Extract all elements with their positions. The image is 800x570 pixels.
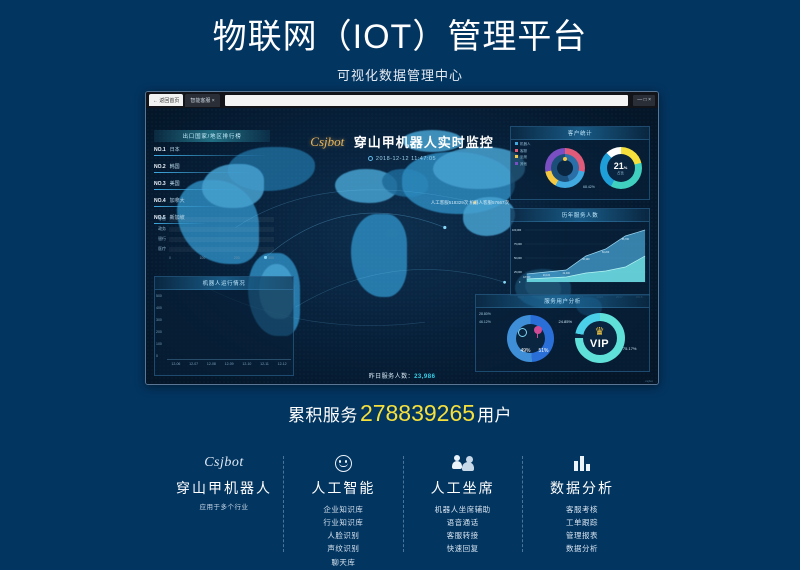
hbar-label: 政务 <box>154 226 166 232</box>
svg-text:0: 0 <box>519 280 521 284</box>
y-tick: 500 <box>156 294 162 298</box>
dashboard-title-block: Csjbot 穿山甲机器人实时监控 2018-12-12 11:47:05 <box>146 132 658 162</box>
accumulated-users: 累积服务278839265用户 <box>0 400 800 427</box>
feature-list-item[interactable]: 快速回复 <box>407 542 519 555</box>
user-stat: 46.12% <box>479 319 491 327</box>
feature-list: 企业知识库 行业知识库 人脸识别 声纹识别 聊天库 <box>287 503 399 569</box>
donut-unit: % <box>624 165 628 170</box>
vip-percent: 24.85% <box>559 319 573 324</box>
donut-value: 21 <box>614 161 624 171</box>
vip-label: VIP <box>590 338 609 350</box>
feature-list-item[interactable]: 管理报表 <box>526 529 638 542</box>
rank-name: 韩国 <box>170 163 180 170</box>
rank-name: 美国 <box>170 180 180 187</box>
feature-columns: Csjbot 穿山甲机器人 应用于多个行业 人工智能 企业知识库 行业知识库 人… <box>168 452 638 569</box>
footer-value: 23,986 <box>414 374 435 380</box>
x-tick: 12-07 <box>189 362 198 366</box>
feature-list-item[interactable]: 企业知识库 <box>287 503 399 516</box>
hbar-tick: 200 <box>234 256 240 260</box>
x-tick: 12-06 <box>171 362 180 366</box>
hbar-row: 零售 <box>154 216 274 222</box>
csjbot-logo-icon: Csjbot <box>168 452 280 474</box>
rank-row[interactable]: NO.3 美国 <box>154 180 270 190</box>
y-tick: 300 <box>156 318 162 322</box>
feature-list-item[interactable]: 人脸识别 <box>287 529 399 542</box>
dashboard-corner-note: csjbot <box>645 379 653 383</box>
donut-caption: 占比 <box>617 171 624 176</box>
rank-no: NO.3 <box>154 181 166 187</box>
rank-no: NO.2 <box>154 164 166 170</box>
crown-icon: ♛ <box>595 327 605 338</box>
feature-column-robot[interactable]: Csjbot 穿山甲机器人 应用于多个行业 <box>168 452 280 569</box>
hbar-tick: 100 <box>199 256 205 260</box>
dashboard-datetime: 2018-12-12 11:47:05 <box>376 156 436 162</box>
yearly-service-panel: 历年服务人数 人工客服518329次 机器人客服57667次 100,00075… <box>510 208 650 296</box>
x-tick: 12-11 <box>260 362 269 366</box>
gender-donut: 49% 51% <box>507 315 554 362</box>
dashboard-canvas: Csjbot 穿山甲机器人实时监控 2018-12-12 11:47:05 出口… <box>146 108 658 385</box>
clock-icon <box>368 156 373 161</box>
vip-right-percent: 75.17% <box>623 346 637 351</box>
feature-list-item[interactable]: 行业知识库 <box>287 516 399 529</box>
bar-y-axis: 500 400 300 200 100 0 <box>156 294 162 358</box>
svg-text:50,000: 50,000 <box>514 256 522 260</box>
user-analysis-title: 服务用户分析 <box>476 295 649 308</box>
yearly-service-title: 历年服务人数 <box>511 209 649 222</box>
hbar-axis: 0 100 200 300 <box>154 256 274 260</box>
svg-text:25,000: 25,000 <box>514 270 522 274</box>
browser-toolbar: ← 返回首页 智能客服 × — □ × <box>146 92 658 108</box>
csjbot-logo-text: Csjbot <box>204 455 244 471</box>
dashboard-datetime-row: 2018-12-12 11:47:05 <box>146 156 658 162</box>
window-controls[interactable]: — □ × <box>633 95 655 106</box>
footer-label: 昨日服务人数： <box>369 374 415 380</box>
svg-text:20,100: 20,100 <box>543 274 551 277</box>
feature-list-item[interactable]: 机器人坐席辅助 <box>407 503 519 516</box>
hbar-row: 银行 <box>154 236 274 242</box>
service-stats-text: 人工客服518329次 机器人客服57667次 <box>389 200 509 206</box>
feature-list-item[interactable]: 聊天库 <box>287 556 399 569</box>
hbar-label: 医疗 <box>154 246 166 252</box>
two-people-icon <box>407 452 519 474</box>
x-tick: 12-09 <box>225 362 234 366</box>
hbar-label: 零售 <box>154 216 166 222</box>
feature-column-agent[interactable]: 人工坐席 机器人坐席辅助 语音通话 客服转接 快速回复 <box>407 452 519 569</box>
feature-column-ai[interactable]: 人工智能 企业知识库 行业知识库 人脸识别 声纹识别 聊天库 <box>287 452 399 569</box>
x-tick: 12-12 <box>278 362 287 366</box>
y-tick: 100 <box>156 342 162 346</box>
male-percent: 49% <box>521 348 531 354</box>
feature-list-item[interactable]: 数据分析 <box>526 542 638 555</box>
feature-title: 人工智能 <box>287 478 399 498</box>
svg-text:86,700: 86,700 <box>622 238 630 241</box>
svg-text:75,000: 75,000 <box>514 242 522 246</box>
csjbot-logo: Csjbot <box>310 134 344 149</box>
feature-list-item[interactable]: 客服考核 <box>526 503 638 516</box>
rank-name: 加拿大 <box>170 197 185 204</box>
accumulated-number: 278839265 <box>360 400 475 426</box>
feature-list: 客服考核 工单跟踪 管理报表 数据分析 <box>526 503 638 556</box>
x-tick: 12-08 <box>207 362 216 366</box>
feature-title: 人工坐席 <box>407 478 519 498</box>
female-percent: 51% <box>538 348 548 354</box>
bar-chart-plot <box>167 294 291 360</box>
x-tick: 12-10 <box>242 362 251 366</box>
bar-x-axis: 12-06 12-07 12-08 12-09 12-10 12-11 12-1… <box>167 362 291 366</box>
area-chart-plot: 100,00075,000 50,00025,0000 18,50020,100… <box>511 222 649 290</box>
feature-list-item[interactable]: 声纹识别 <box>287 542 399 555</box>
address-bar[interactable] <box>225 95 629 106</box>
robot-status-title: 机器人运行情况 <box>155 277 293 290</box>
hbar-tick: 300 <box>268 256 274 260</box>
feature-list-item[interactable]: 语音通话 <box>407 516 519 529</box>
user-stat: 28.80% <box>479 311 491 319</box>
hbar-label: 银行 <box>154 236 166 242</box>
feature-list-item[interactable]: 工单跟踪 <box>526 516 638 529</box>
accumulated-prefix: 累积服务 <box>288 406 358 425</box>
y-tick: 0 <box>156 354 162 358</box>
dashboard-footer: 昨日服务人数：23,986 <box>146 371 658 380</box>
donut-left-value: 68.42% <box>583 185 595 189</box>
vip-donut: ♛ VIP 24.85% 75.17% <box>575 313 625 363</box>
feature-subtitle: 应用于多个行业 <box>168 501 280 511</box>
feature-title: 数据分析 <box>526 478 638 498</box>
y-tick: 200 <box>156 330 162 334</box>
hbar-row: 医疗 <box>154 246 274 252</box>
window-control-buttons[interactable]: — □ × <box>633 95 655 106</box>
hbar-row: 政务 <box>154 226 274 232</box>
feature-title: 穿山甲机器人 <box>168 478 280 498</box>
page-header: 物联网（IOT）管理平台 可视化数据管理中心 <box>0 0 800 84</box>
hbar-tick: 0 <box>169 256 171 260</box>
browser-tab[interactable]: 智能客服 × <box>185 94 219 107</box>
svg-text:46,300: 46,300 <box>582 258 590 261</box>
svg-text:18,500: 18,500 <box>523 276 531 279</box>
dashboard-title: 穿山甲机器人实时监控 <box>354 135 494 150</box>
legend-label: 其他 <box>520 162 527 166</box>
y-tick: 400 <box>156 306 162 310</box>
rank-row[interactable]: NO.4 加拿大 <box>154 197 270 207</box>
user-analysis-panel: 服务用户分析 28.80% 46.12% 49% 51% ♛ <box>475 294 650 372</box>
page-subtitle: 可视化数据管理中心 <box>0 65 800 84</box>
page-title: 物联网（IOT）管理平台 <box>0 18 800 57</box>
robot-status-panel: 机器人运行情况 500 400 300 200 100 0 <box>154 276 294 376</box>
horizontal-bar-chart: 零售 政务 银行 医疗 0 100 200 300 <box>154 216 274 260</box>
feature-column-analytics[interactable]: 数据分析 客服考核 工单跟踪 管理报表 数据分析 <box>526 452 638 569</box>
browser-nav-group: ← 返回首页 智能客服 × <box>149 94 220 107</box>
smiley-face-icon <box>287 452 399 474</box>
svg-text:60,200: 60,200 <box>602 251 610 254</box>
browser-window: ← 返回首页 智能客服 × — □ × <box>145 91 659 385</box>
svg-text:100,000: 100,000 <box>512 228 522 232</box>
rank-no: NO.4 <box>154 198 166 204</box>
bar-chart-icon <box>526 452 638 474</box>
rank-row[interactable]: NO.2 韩国 <box>154 163 270 173</box>
accumulated-suffix: 用户 <box>477 406 512 425</box>
user-side-stats: 28.80% 46.12% <box>479 311 491 326</box>
feature-list: 机器人坐席辅助 语音通话 客服转接 快速回复 <box>407 503 519 556</box>
svg-text:22,400: 22,400 <box>563 272 571 275</box>
back-button[interactable]: ← 返回首页 <box>149 94 183 106</box>
feature-list-item[interactable]: 客服转接 <box>407 529 519 542</box>
